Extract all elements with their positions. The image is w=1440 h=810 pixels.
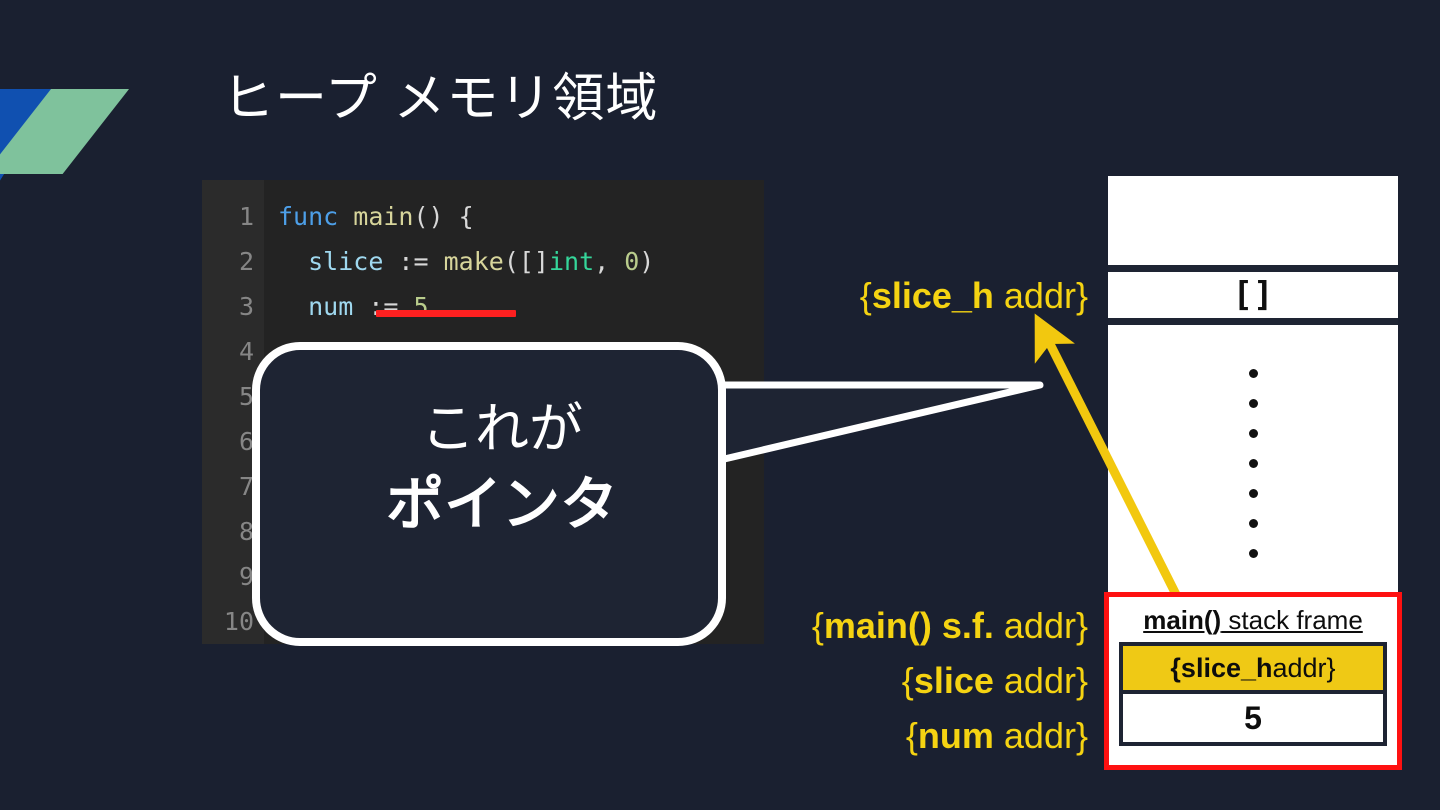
label-regular: addr [994,605,1076,646]
label-main-sf-addr: {main() s.f. addr} [812,605,1088,647]
code-token: , [594,247,624,276]
code-token [278,292,308,321]
stack-frame-title-regular: stack frame [1221,605,1363,635]
code-token: num [308,292,353,321]
heap-memory-column: [] [1108,176,1398,596]
label-bold: slice_h [872,275,994,316]
memory-cell-slice-header: [] [1108,272,1398,325]
callout-bubble [250,340,1080,650]
brace-close: } [1076,275,1088,316]
label-bold: slice [914,660,994,701]
line-number: 4 [202,329,254,374]
line-number: 2 [202,239,254,284]
code-token [278,247,308,276]
memory-dot [1249,489,1258,498]
brace-open: { [860,275,872,316]
code-token: () { [414,202,474,231]
stack-cell-num-value: 5 [1119,694,1387,746]
memory-dot [1249,399,1258,408]
code-token: main [353,202,413,231]
label-bold: main() s.f. [824,605,994,646]
code-token: make [444,247,504,276]
stack-frame-title: main() stack frame [1119,605,1387,636]
stack-cell-regular: addr} [1273,653,1336,684]
stack-cell-bold: {slice_h [1170,653,1272,684]
brace-open: { [906,715,918,756]
stack-frame-title-bold: main() [1143,605,1221,635]
memory-dot [1249,549,1258,558]
code-token: := [383,247,443,276]
code-token: 0 [624,247,639,276]
brace-close: } [1076,605,1088,646]
line-number: 3 [202,284,254,329]
memory-dot [1249,459,1258,468]
code-token: ([] [504,247,549,276]
label-slice-addr: {slice addr} [902,660,1088,702]
label-regular: addr [994,275,1076,316]
code-token [338,202,353,231]
label-bold: num [918,715,994,756]
page-title: ヒープ メモリ領域 [222,70,658,130]
code-token: int [549,247,594,276]
code-token: ) [639,247,654,276]
line-number: 9 [202,554,254,599]
memory-dot [1249,519,1258,528]
num-highlight-underline [376,310,516,317]
code-token: func [278,202,338,231]
label-slice-h-heap-addr: {slice_h addr} [860,275,1088,317]
label-regular: addr [994,660,1076,701]
brace-close: } [1076,715,1088,756]
main-stack-frame: main() stack frame {slice_h addr} 5 [1104,592,1402,770]
slide-canvas: ヒープ メモリ領域 1 2 3 4 5 6 7 8 9 10 func main… [0,0,1440,810]
brace-open: { [902,660,914,701]
stack-cell-slice-pointer: {slice_h addr} [1119,642,1387,694]
label-num-addr: {num addr} [906,715,1088,757]
code-line: num := 5 [278,284,764,329]
line-number: 10 [202,599,254,644]
label-regular: addr [994,715,1076,756]
line-number: 6 [202,419,254,464]
line-number: 5 [202,374,254,419]
code-line: slice := make([]int, 0) [278,239,764,284]
memory-dot [1249,369,1258,378]
code-token: slice [308,247,383,276]
code-line: func main() { [278,194,764,239]
memory-cell-dots [1108,325,1398,596]
memory-cell-empty-top [1108,176,1398,272]
line-number: 8 [202,509,254,554]
memory-dot [1249,429,1258,438]
line-number: 7 [202,464,254,509]
line-number: 1 [202,194,254,239]
brace-close: } [1076,660,1088,701]
corner-logo [0,34,180,214]
brace-open: { [812,605,824,646]
